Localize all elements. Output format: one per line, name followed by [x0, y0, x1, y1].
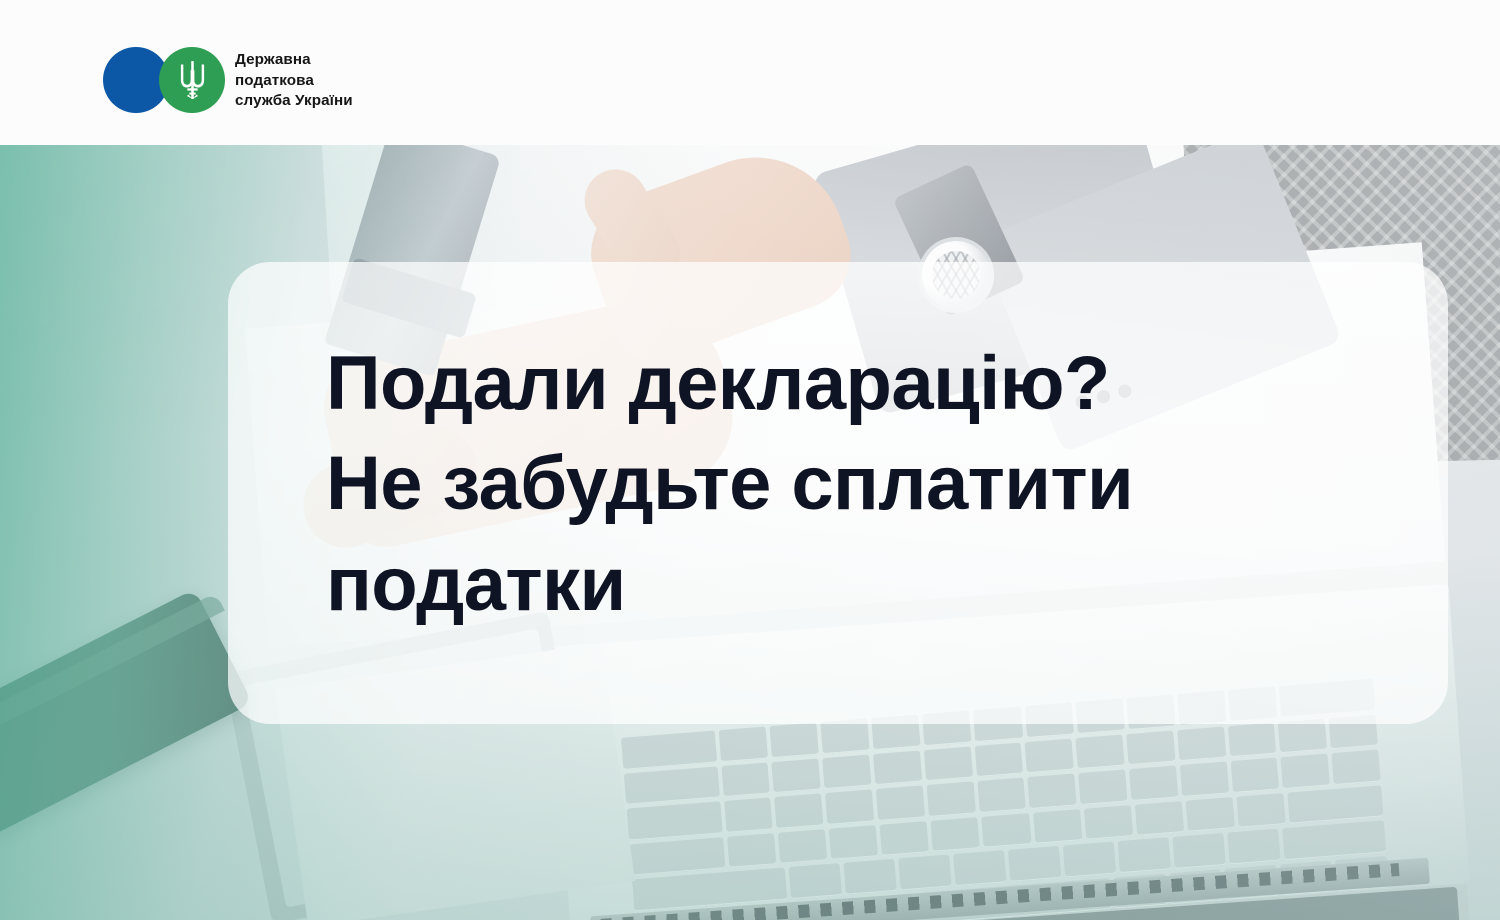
- logo-text: Державна податкова служба України: [235, 47, 353, 112]
- logo-text-line-1: Державна: [235, 50, 353, 71]
- site-header: Державна податкова служба України: [0, 0, 1500, 145]
- banner-stage: Подали декларацію? Не забудьте сплатити …: [0, 0, 1500, 920]
- ukrainian-trident-icon: [179, 61, 206, 99]
- logo-marks: [103, 47, 225, 113]
- page-title: Подали декларацію? Не забудьте сплатити …: [326, 334, 1436, 635]
- logo-text-line-2: податкова: [235, 71, 353, 92]
- logo[interactable]: Державна податкова служба України: [103, 47, 353, 113]
- logo-text-line-3: служба України: [235, 91, 353, 112]
